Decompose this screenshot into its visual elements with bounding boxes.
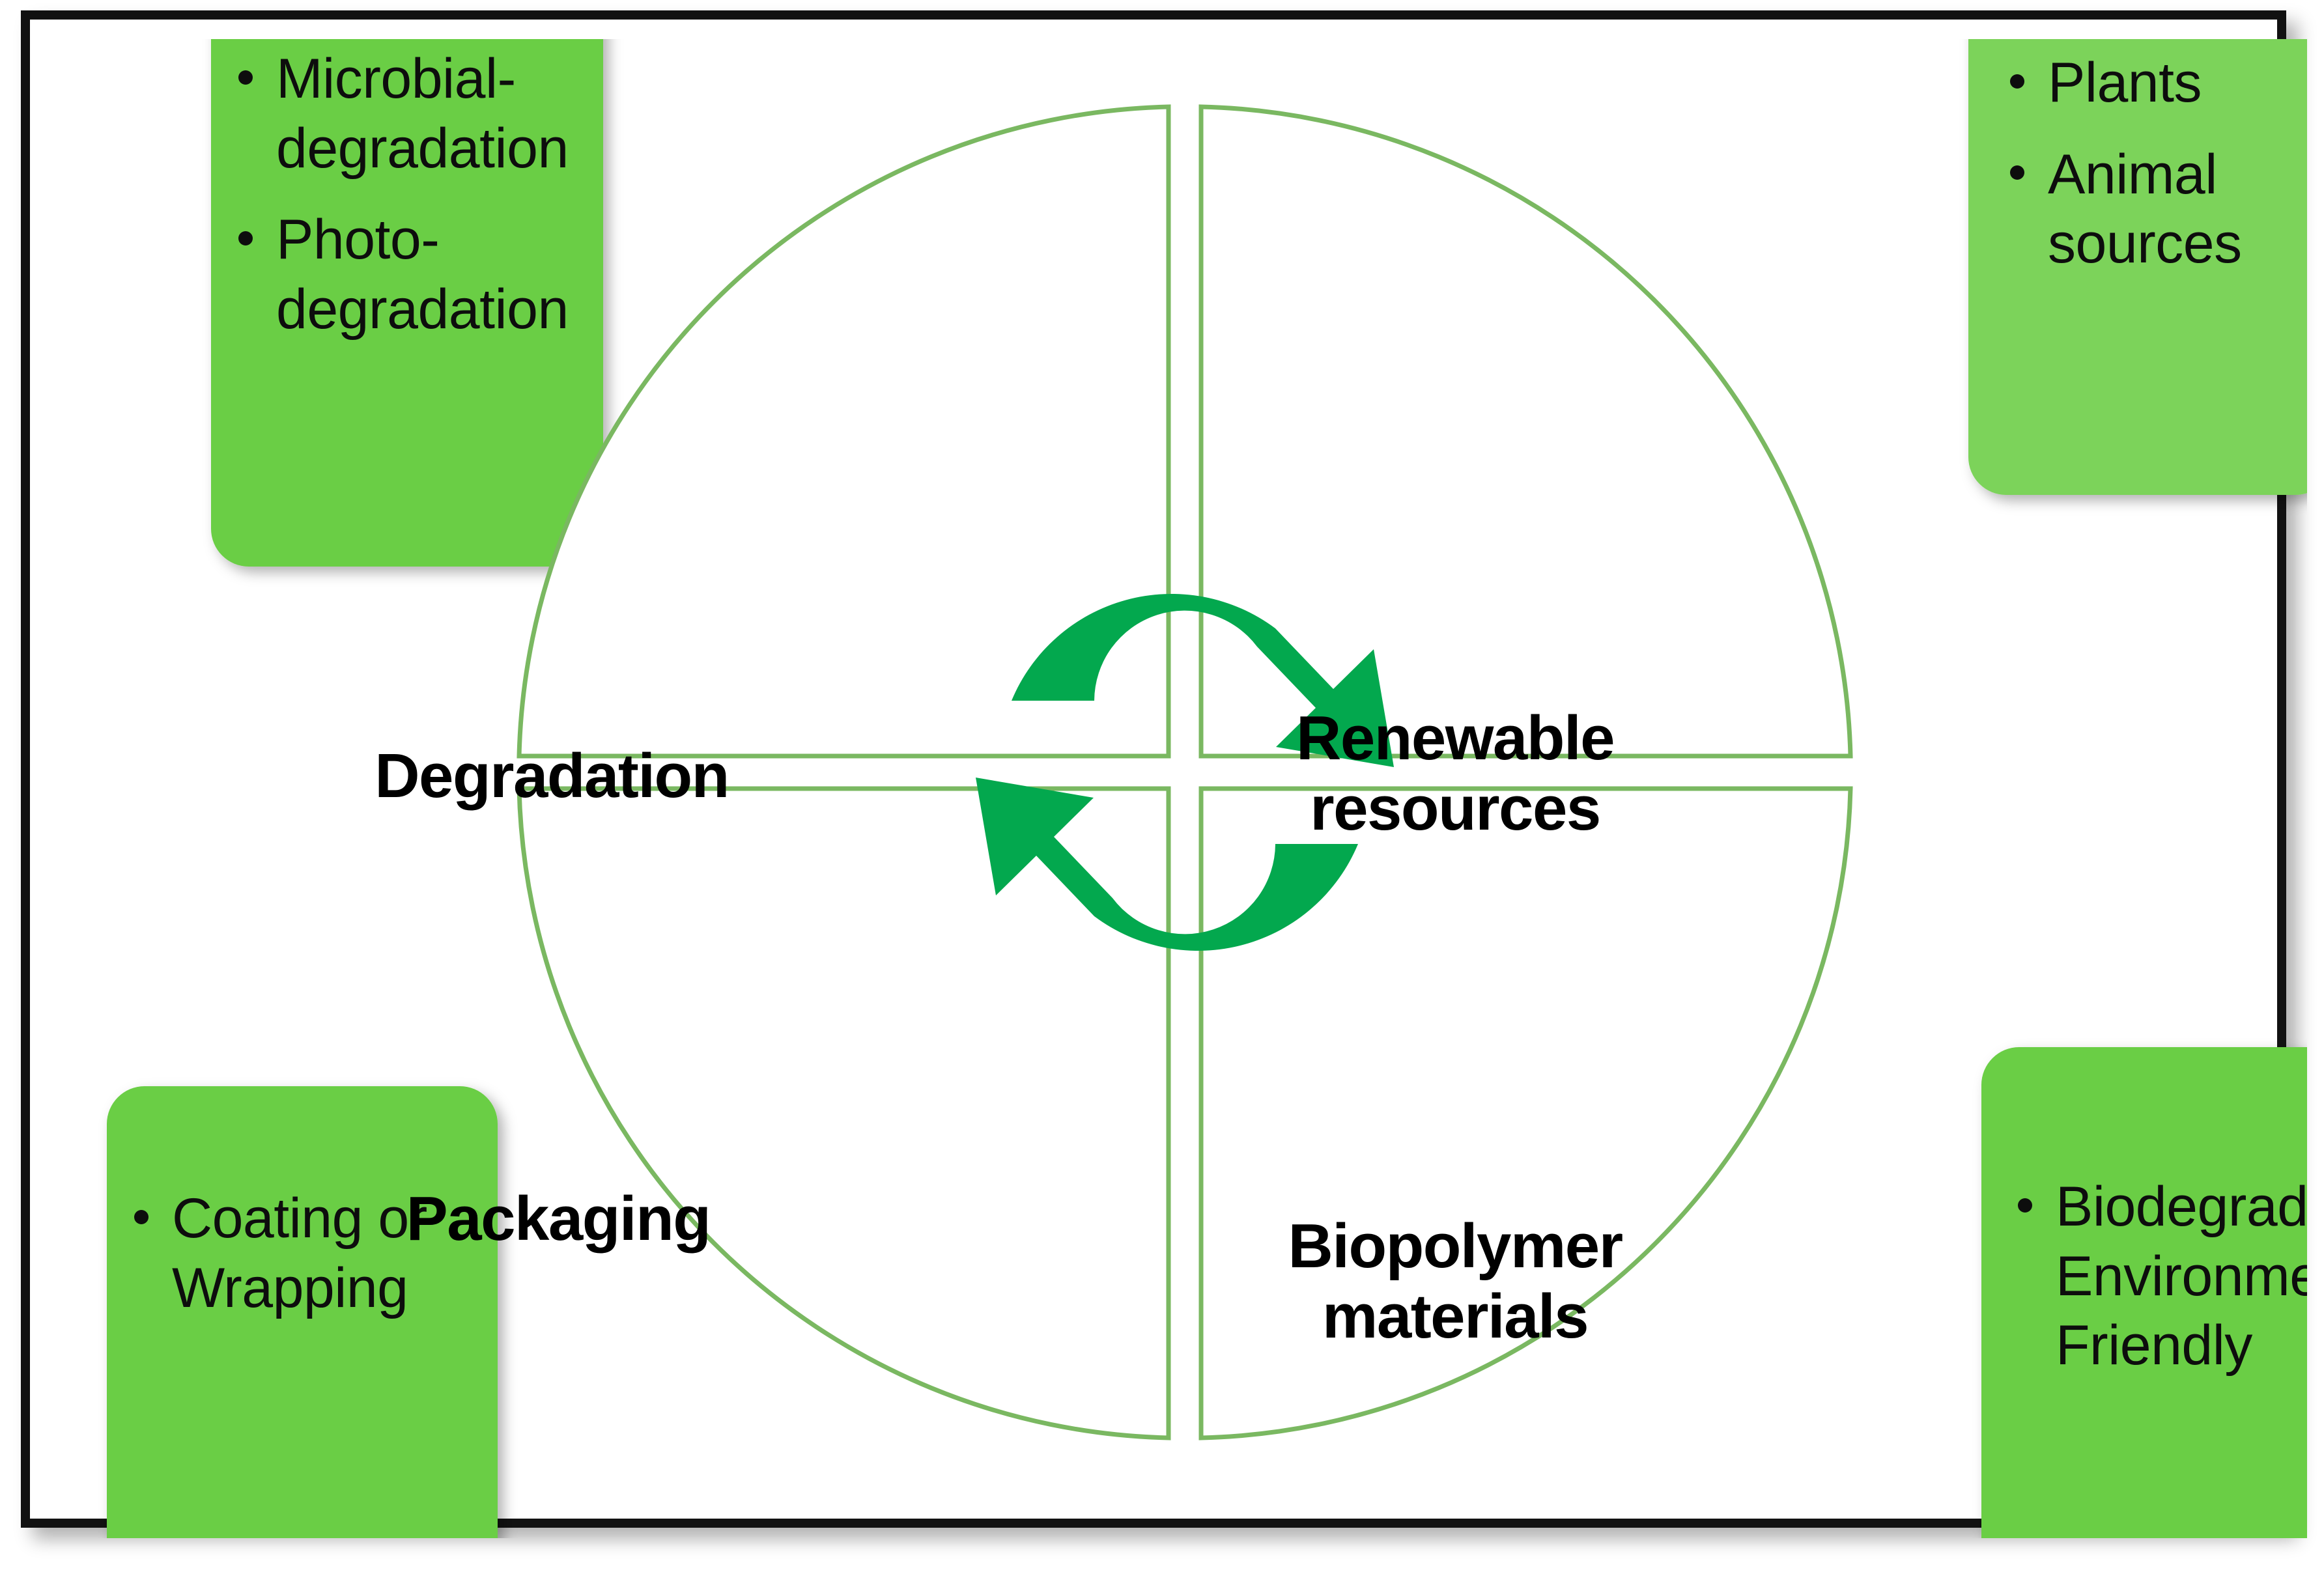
quadrant-label-biopolymer-line1: Biopolymer [1288,1211,1622,1281]
quadrant-label-renewable-resources: Renewable resources [1227,703,1683,845]
diagram-frame: Microbial-degradation Photo-degradation … [21,10,2286,1528]
quadrant-label-degradation: Degradation [304,741,799,811]
bullet-dot-icon [2010,74,2024,89]
quadrant-label-biopolymer-line2: materials [1322,1282,1588,1351]
quadrant-label-degradation-text: Degradation [375,741,729,811]
quadrant-label-packaging: Packaging [311,1184,806,1254]
bullet-dot-icon [134,1210,149,1224]
quadrant-label-biopolymer-materials: Biopolymer materials [1227,1211,1683,1353]
quadrant-label-packaging-text: Packaging [406,1184,711,1254]
callout-text-top-left: Microbial-degradation Photo-degradation [234,44,534,344]
callout-bullet-plants: Plants [2006,48,2280,118]
bullet-dot-icon [2018,1198,2032,1213]
diagram-canvas: Microbial-degradation Photo-degradation … [60,39,2307,1538]
quadrant-label-renewable-line1: Renewable [1296,703,1614,773]
callout-text-bottom-right: Biodegradable-Environmental Friendly [2014,1172,2307,1381]
bullet-dot-icon [238,70,253,85]
diagram-stage: Microbial-degradation Photo-degradation … [0,0,2324,1572]
callout-text-top-right: Plants Animal sources [2006,48,2280,279]
callout-bullet-animal-sources: Animal sources [2006,140,2280,279]
bullet-dot-icon [238,231,253,246]
callout-bullet-photo-degradation: Photo-degradation [234,205,534,344]
callout-bullet-biodegradable-environmental-friendly: Biodegradable-Environmental Friendly [2014,1172,2307,1381]
callout-bullet-microbial-degradation: Microbial-degradation [234,44,534,183]
quadrant-label-renewable-line2: resources [1310,774,1600,843]
bullet-dot-icon [2010,165,2024,180]
